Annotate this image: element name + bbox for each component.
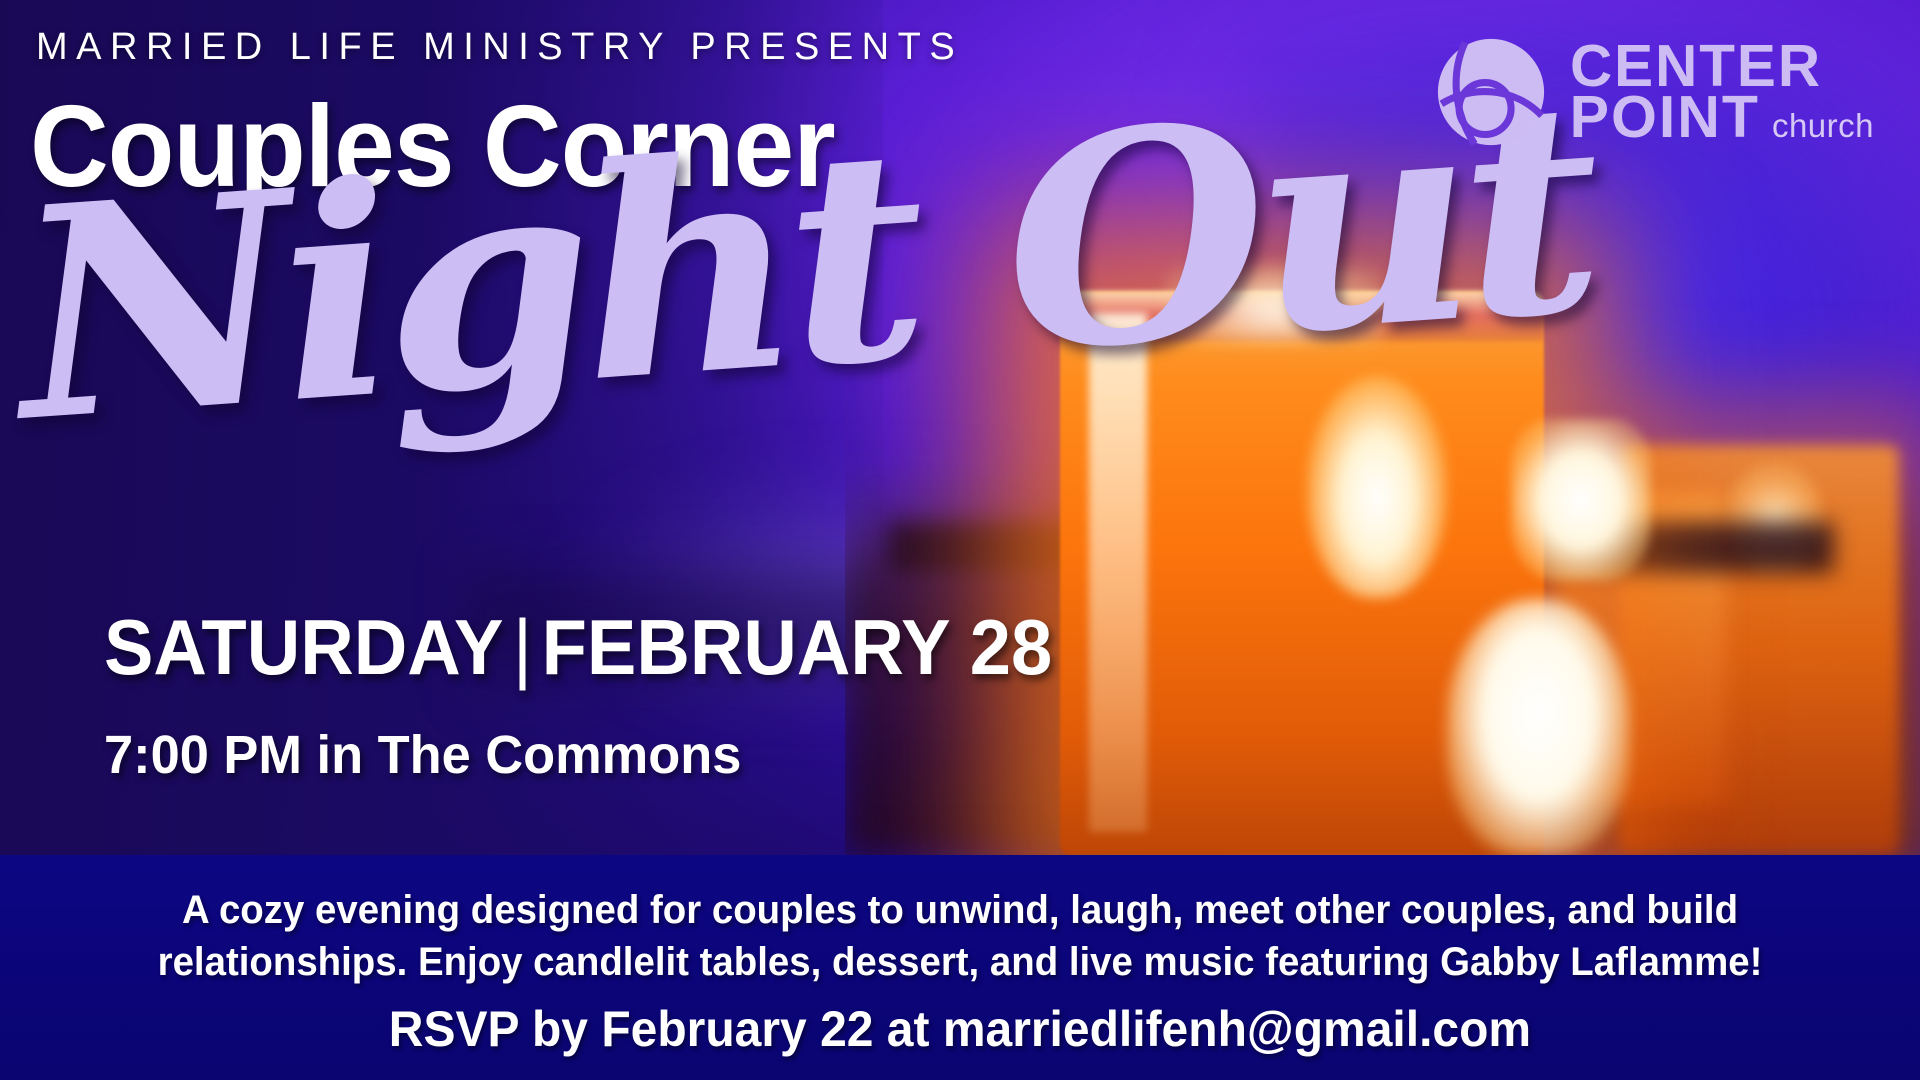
event-day: SATURDAY [104, 603, 503, 691]
event-flyer: MARRIED LIFE MINISTRY PRESENTS Couples C… [0, 0, 1920, 1080]
event-date: SATURDAY|FEBRUARY 28 [104, 608, 1052, 686]
rsvp-line: RSVP by February 22 at marriedlifenh@gma… [389, 1004, 1531, 1054]
event-date-value: FEBRUARY 28 [542, 603, 1053, 691]
logo-wordmark: CENTER POINT church [1570, 41, 1874, 142]
logo-suffix-church: church [1772, 112, 1874, 140]
logo-line-point: POINT [1570, 92, 1760, 143]
logo-line-center: CENTER [1570, 41, 1871, 92]
bottom-info-bar: A cozy evening designed for couples to u… [0, 855, 1920, 1080]
event-description: A cozy evening designed for couples to u… [101, 885, 1819, 987]
globe-sphere-icon [1432, 33, 1550, 151]
kicker-text: MARRIED LIFE MINISTRY PRESENTS [36, 28, 963, 66]
logo-line-point-row: POINT church [1570, 92, 1874, 143]
event-time-location: 7:00 PM in The Commons [104, 728, 741, 782]
date-separator: | [503, 603, 541, 691]
centerpoint-church-logo: CENTER POINT church [1432, 33, 1874, 151]
